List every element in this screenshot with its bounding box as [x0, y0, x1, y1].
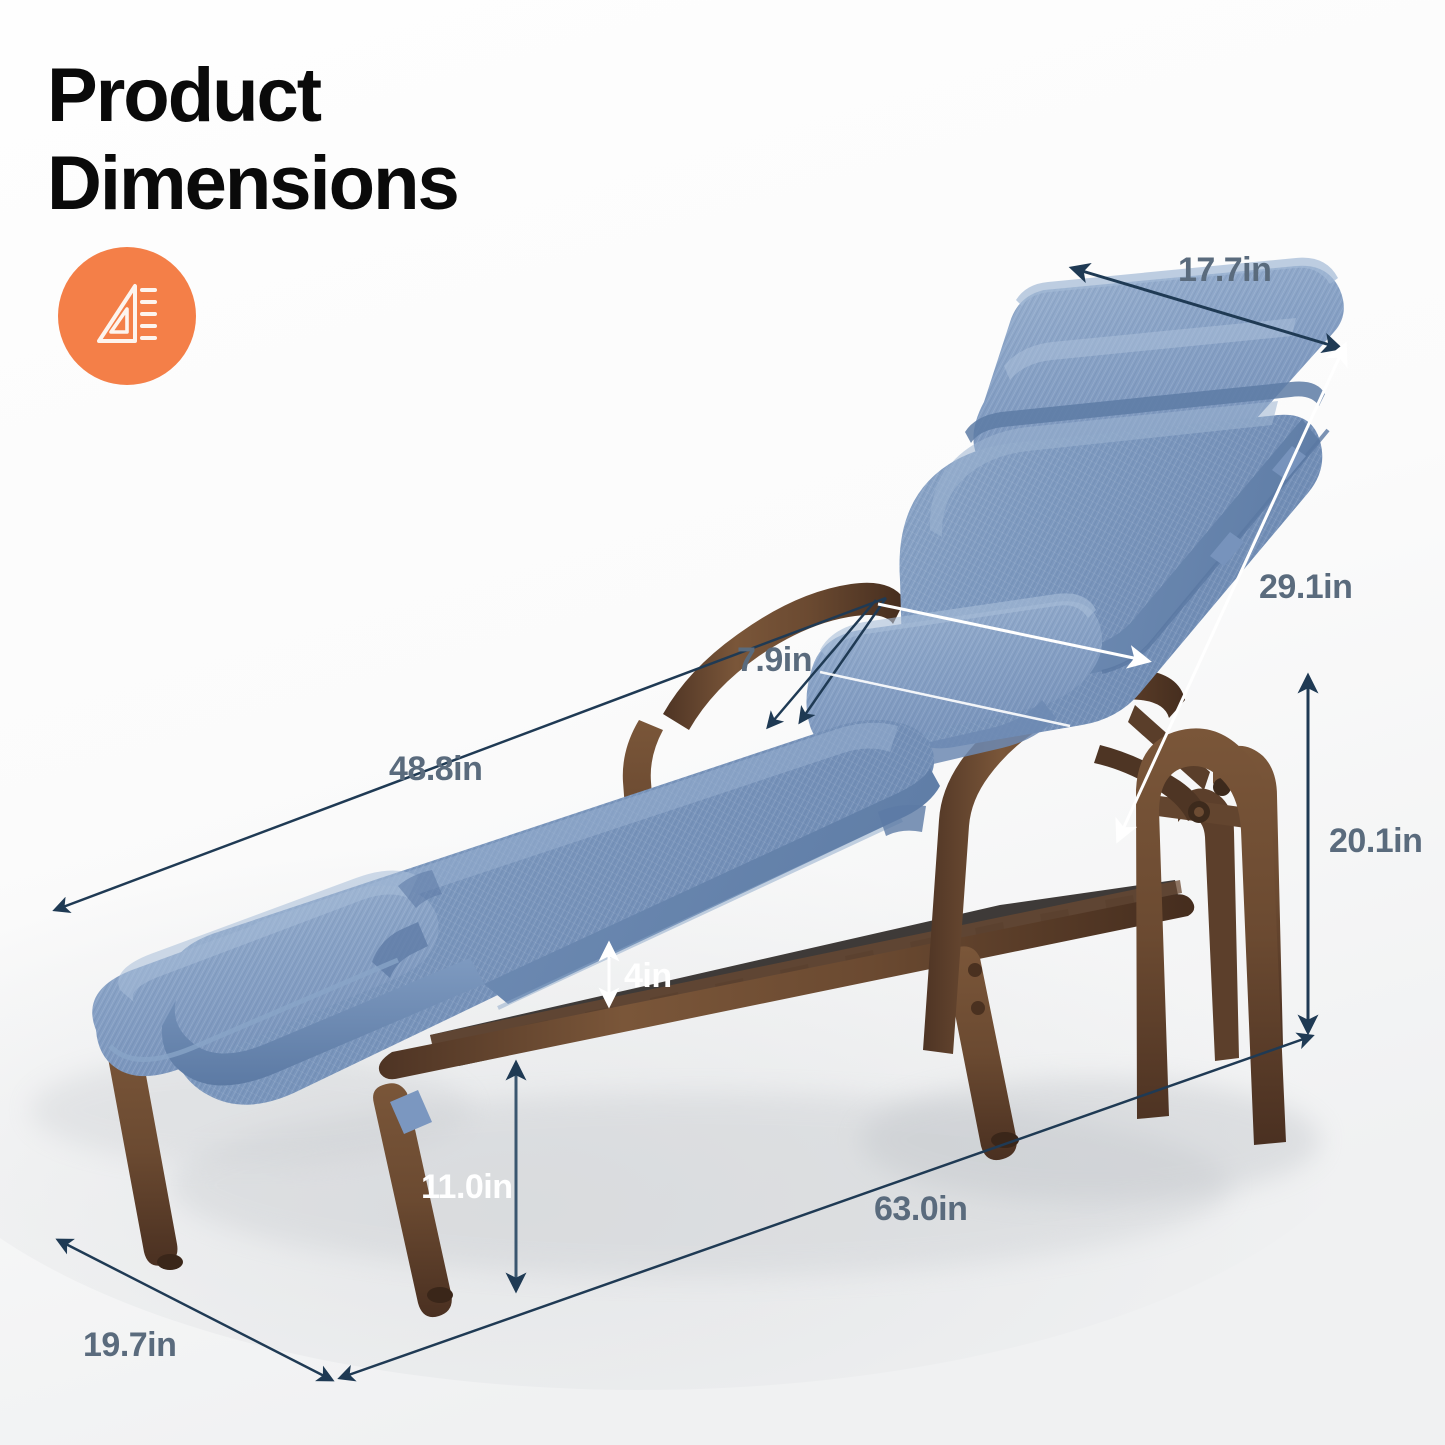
product-dimensions-infographic: 17.7in 29.1in 7.9in 48.8in 20.1in 4in 11…	[0, 0, 1445, 1445]
ruler-triangle-icon	[89, 278, 165, 354]
title-line-1: Product	[47, 52, 747, 140]
title-line-2: Dimensions	[47, 140, 747, 228]
page-title: Product Dimensions	[47, 52, 747, 228]
ruler-triangle-icon-badge	[58, 247, 196, 385]
